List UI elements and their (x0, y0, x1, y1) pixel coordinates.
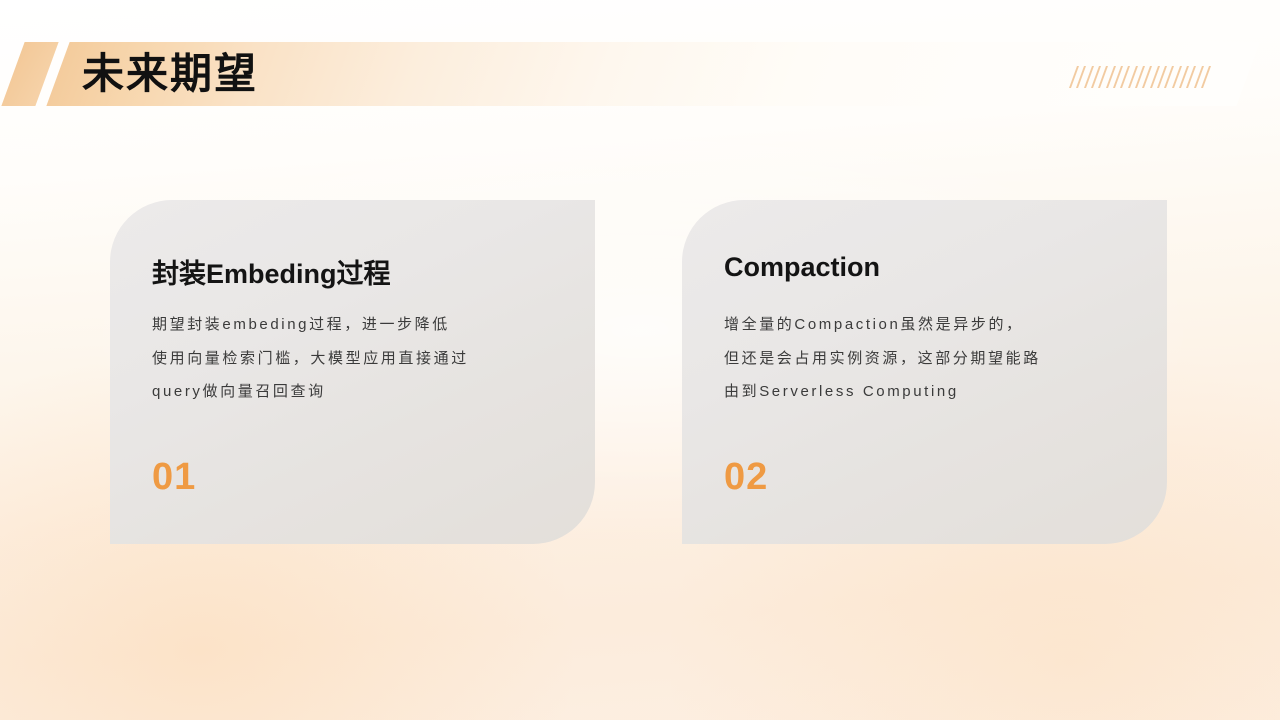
card-title: 封装Embeding过程 (152, 252, 391, 291)
card-body-line: query做向量召回查询 (152, 375, 572, 409)
card-title: Compaction (724, 252, 880, 283)
card-body: 增全量的Compaction虽然是异步的， 但还是会占用实例资源，这部分期望能路… (724, 308, 1144, 409)
diagonal-hatch-ornament-icon (1073, 66, 1207, 88)
card-item[interactable]: Compaction 增全量的Compaction虽然是异步的， 但还是会占用实… (682, 200, 1167, 544)
card-item[interactable]: 封装Embeding过程 期望封装embeding过程，进一步降低 使用向量检索… (110, 200, 595, 544)
page-title: 未来期望 (82, 40, 258, 108)
card-body-line: 增全量的Compaction虽然是异步的， (724, 308, 1144, 342)
card-number-badge: 02 (724, 458, 768, 496)
card-body: 期望封装embeding过程，进一步降低 使用向量检索门槛，大模型应用直接通过 … (152, 308, 572, 409)
card-body-line: 但还是会占用实例资源，这部分期望能路 (724, 342, 1144, 376)
slide-future-expectations: 未来期望 封装Embeding过程 期望封装embeding过程，进一步降低 使… (0, 0, 1280, 720)
card-group: 封装Embeding过程 期望封装embeding过程，进一步降低 使用向量检索… (110, 200, 1170, 544)
card-body-line: 由到Serverless Computing (724, 375, 1144, 409)
card-body-line: 期望封装embeding过程，进一步降低 (152, 308, 572, 342)
card-number-badge: 01 (152, 458, 196, 496)
card-body-line: 使用向量检索门槛，大模型应用直接通过 (152, 342, 572, 376)
